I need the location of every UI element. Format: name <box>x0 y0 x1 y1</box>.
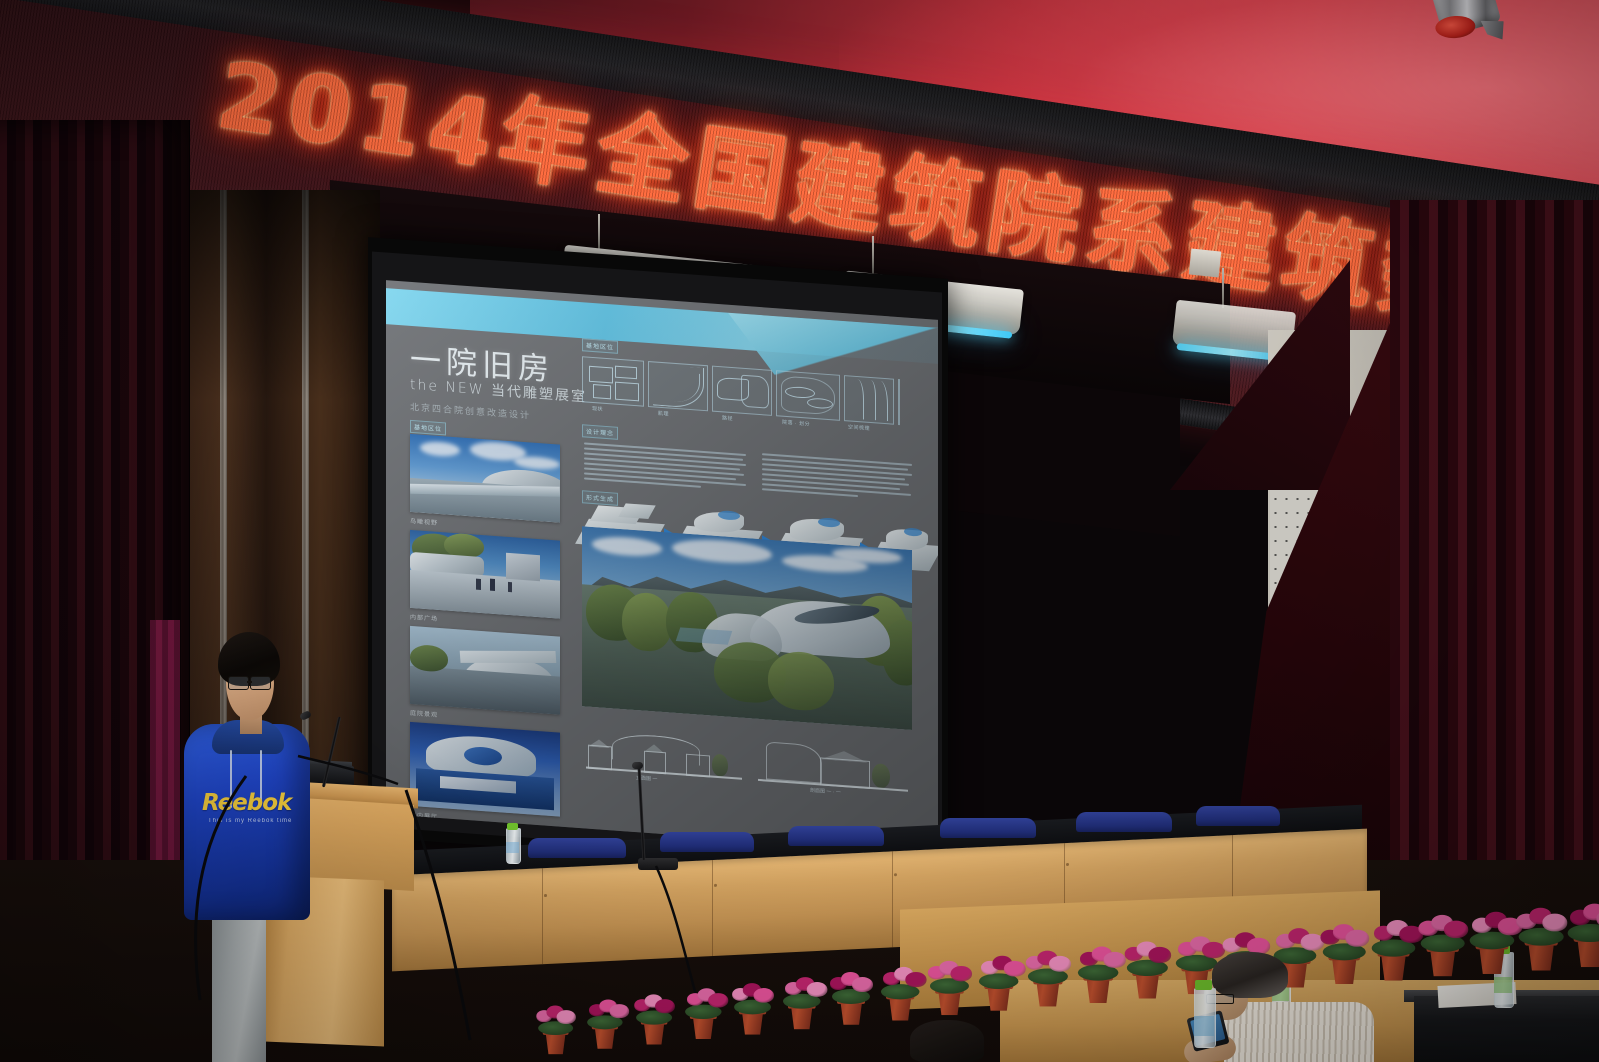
hero-aerial-rendering <box>582 526 912 730</box>
diagram-caption-1: 现状 <box>592 405 603 413</box>
speaker-glasses-bridge <box>247 681 252 683</box>
slide-section-tag-3: 设计理念 <box>582 424 618 440</box>
slide-body-text-left <box>584 442 746 494</box>
speaker-legs <box>212 910 266 1062</box>
audience-shirt <box>1224 1002 1374 1062</box>
wall-mounted-box <box>1189 249 1222 278</box>
slide-body-text-right <box>762 453 912 504</box>
cyclamen-bloom <box>1148 947 1171 963</box>
diagram-caption-5: 空间梳理 <box>848 423 870 432</box>
diagram-thumb-5 <box>844 375 894 425</box>
bottle-label <box>1194 1016 1214 1036</box>
cyclamen-bloom <box>1345 929 1369 946</box>
chair-back-6 <box>1196 806 1280 826</box>
cyclamen-bloom <box>906 971 927 986</box>
diagram-thumb-4 <box>776 370 840 421</box>
table-microphone-head <box>632 762 643 769</box>
hoodie-brand-text: Reebok <box>202 790 291 816</box>
bottle-cap <box>1195 980 1212 990</box>
audience-person-front <box>1190 952 1380 1062</box>
chair-back-1 <box>528 838 626 858</box>
slide-section-tag-1: 基地区位 <box>410 420 446 436</box>
render-caption-2: 内部广场 <box>410 612 438 623</box>
stage-curtain-right <box>1390 200 1599 960</box>
elevation-caption-2: 剖面图 一 · 一 <box>810 787 841 796</box>
diagram-thumb-1 <box>582 356 644 406</box>
render-thumb-3 <box>410 626 560 715</box>
chair-back-2 <box>660 832 754 852</box>
audience-head-secondary <box>910 1020 984 1062</box>
slide-subtitle-secondary: 北京四合院创意改造设计 <box>410 400 531 422</box>
cyclamen-bloom <box>807 982 828 997</box>
render-thumb-4 <box>410 722 560 817</box>
diagram-thumb-2 <box>648 361 708 411</box>
hoodie-brand-subtext: This is my Reebok time <box>208 818 292 824</box>
cyclamen-bloom <box>610 1004 630 1018</box>
speaker: Reebok This is my Reebok time <box>178 632 318 1062</box>
cyclamen-bloom <box>557 1010 576 1024</box>
cyclamen-bloom <box>754 988 774 1003</box>
chair-back-5 <box>1076 812 1172 832</box>
slide-section-tag-2: 基地区位 <box>582 338 618 354</box>
cyclamen-bloom <box>1444 921 1468 938</box>
render-caption-1: 鸟瞰视野 <box>410 516 438 527</box>
elevation-drawing-1: 立面图 一 <box>586 727 742 790</box>
projected-slide: 一院旧房 the NEW 当代雕塑展室 北京四合院创意改造设计 基地区位 鸟瞰视… <box>386 280 938 854</box>
chair-back-4 <box>940 818 1036 838</box>
diagram-caption-3: 路径 <box>722 414 733 422</box>
light-stem <box>1222 268 1224 308</box>
diagram-caption-2: 肌理 <box>658 410 669 418</box>
cyclamen-bloom <box>655 999 675 1013</box>
speaker-glasses-right <box>250 676 271 690</box>
slide-section-tag-4: 形式生成 <box>582 490 618 506</box>
diagram-caption-4: 院落 · 划分 <box>782 419 810 428</box>
chair-back-3 <box>788 826 884 846</box>
elevation-drawing-2: 剖面图 一 · 一 <box>758 739 908 802</box>
bottle-cap <box>507 823 518 830</box>
render-thumb-2 <box>410 530 560 619</box>
cyclamen-bloom <box>1103 951 1125 967</box>
cyclamen-bloom <box>852 977 873 992</box>
cyclamen-bloom <box>708 993 728 1007</box>
diagram-thumb-3 <box>712 366 772 416</box>
bottle-label <box>1494 977 1512 993</box>
conference-photograph: 2014年全国建筑院系建筑数字技术教学研讨会 <box>0 0 1599 1062</box>
bottle-label <box>506 842 519 853</box>
audience-hair <box>1212 952 1288 998</box>
render-caption-3: 庭院景观 <box>410 708 438 719</box>
cyclamen-bloom <box>1542 913 1567 931</box>
speaker-glasses-left <box>228 676 249 690</box>
render-thumb-1 <box>410 434 560 523</box>
